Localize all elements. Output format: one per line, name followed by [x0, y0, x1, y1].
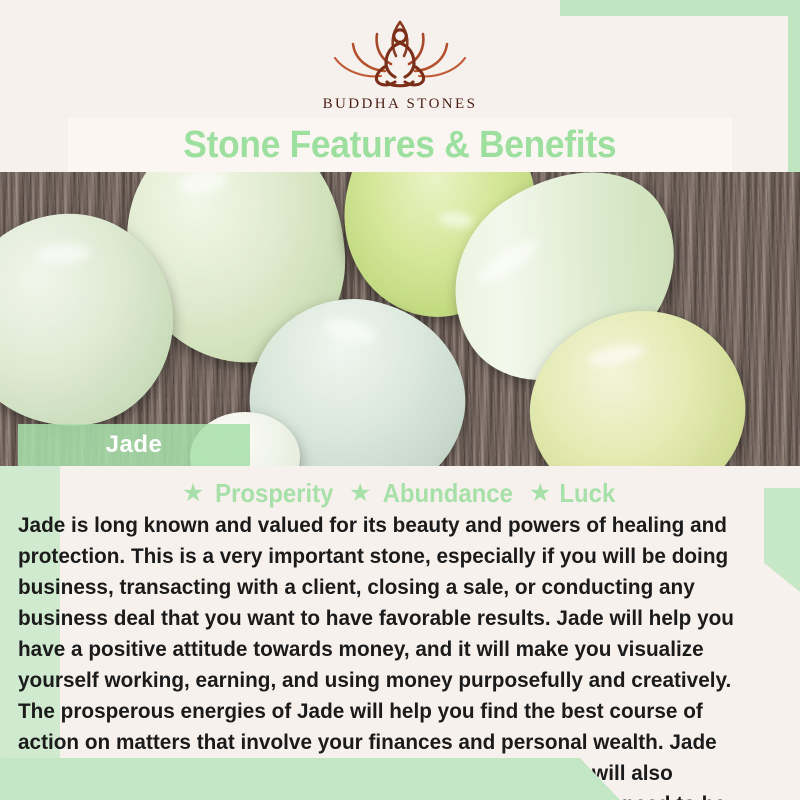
benefit-label: Prosperity: [215, 478, 333, 509]
star-icon: ★: [182, 481, 204, 506]
benefit-item: ★ Abundance: [349, 478, 519, 509]
stone-name-label: Jade: [106, 431, 163, 459]
lotus-meditation-icon: [0, 14, 800, 92]
stone-description: Jade is long known and valued for its be…: [18, 510, 761, 800]
page-title: Stone Features & Benefits: [184, 124, 617, 167]
benefits-list: ★ Prosperity ★ Abundance ★ Luck: [0, 478, 800, 509]
brand-name: BUDDHA STONES: [0, 96, 800, 113]
stone-info-poster: BUDDHA STONES Stone Features & Benefits …: [0, 0, 800, 800]
benefit-item: ★ Prosperity: [182, 478, 339, 509]
stone-photo: [0, 172, 800, 466]
benefit-item: ★ Luck: [529, 478, 618, 509]
benefit-label: Abundance: [383, 478, 513, 509]
decor-body-left-strip: [0, 500, 14, 770]
decor-bottom-band: [0, 758, 620, 800]
stone-name-badge: Jade: [18, 424, 250, 466]
star-icon: ★: [529, 481, 551, 506]
benefit-label: Luck: [560, 478, 616, 509]
brand-logo-block: BUDDHA STONES: [0, 14, 800, 113]
page-title-band: Stone Features & Benefits: [68, 118, 732, 172]
star-icon: ★: [349, 481, 371, 506]
